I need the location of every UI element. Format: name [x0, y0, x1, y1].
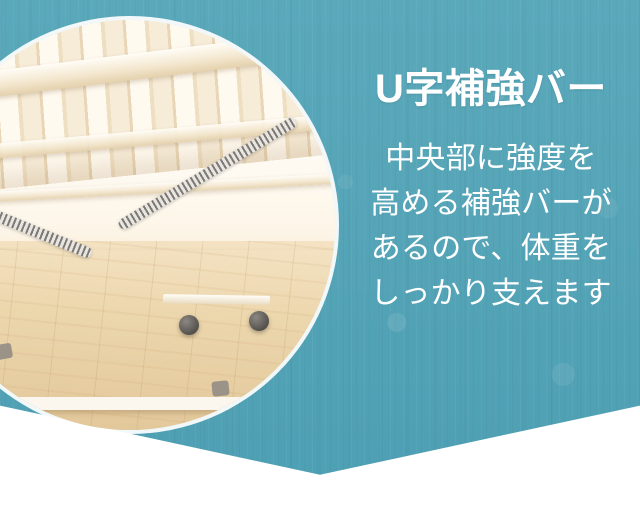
banner-text-column: U字補強バー 中央部に強度を 高める補強バーが あるので、体重を しっかり支えま… [352, 0, 630, 316]
body-line-4: しっかり支えます [352, 271, 630, 316]
product-photo-circle [0, 20, 335, 430]
body-line-3: あるので、体重を [352, 226, 630, 271]
photo-u-reinforcement-bar [0, 250, 335, 411]
body-line-1: 中央部に強度を [352, 136, 630, 181]
photo-bar-ferrule [211, 380, 229, 397]
banner-body-copy: 中央部に強度を 高める補強バーが あるので、体重を しっかり支えます [352, 112, 630, 316]
photo-bar-ferrule [0, 343, 13, 361]
banner-headline: U字補強バー [352, 0, 630, 112]
product-photo-image [0, 20, 335, 430]
banner-root: U字補強バー 中央部に強度を 高める補強バーが あるので、体重を しっかり支えま… [0, 0, 640, 520]
body-line-2: 高める補強バーが [352, 181, 630, 226]
